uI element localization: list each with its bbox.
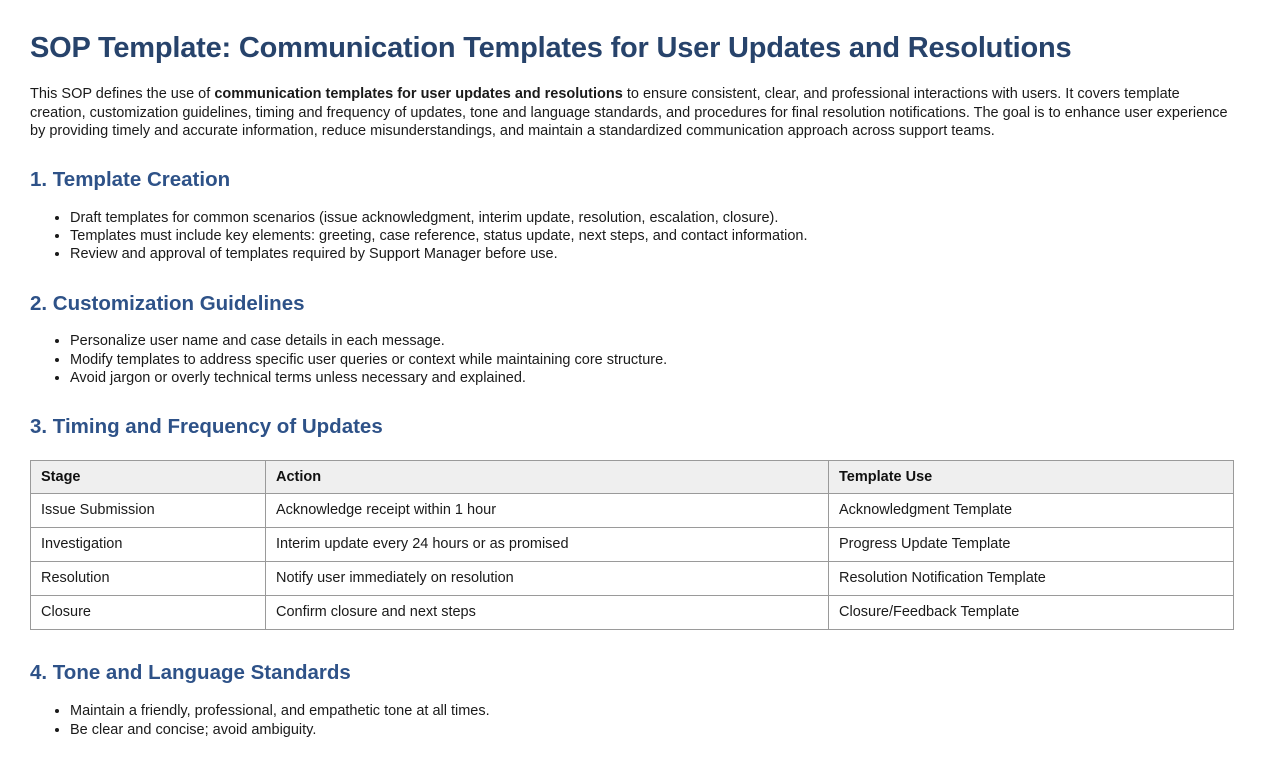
column-header-stage: Stage	[31, 460, 266, 493]
list-item: Review and approval of templates require…	[70, 245, 1233, 263]
list-item: Avoid jargon or overly technical terms u…	[70, 369, 1233, 387]
document-page: SOP Template: Communication Templates fo…	[0, 0, 1263, 739]
cell-action: Acknowledge receipt within 1 hour	[266, 493, 829, 527]
intro-emphasis: communication templates for user updates…	[214, 86, 623, 102]
section-1-bullet-list: Draft templates for common scenarios (is…	[30, 209, 1233, 264]
list-item: Maintain a friendly, professional, and e…	[70, 702, 1233, 720]
list-item: Templates must include key elements: gre…	[70, 227, 1233, 245]
column-header-template-use: Template Use	[829, 460, 1234, 493]
cell-template-use: Closure/Feedback Template	[829, 595, 1234, 629]
table-header-row: Stage Action Template Use	[31, 460, 1234, 493]
section-4-bullet-list: Maintain a friendly, professional, and e…	[30, 702, 1233, 739]
cell-template-use: Resolution Notification Template	[829, 561, 1234, 595]
table-row: Closure Confirm closure and next steps C…	[31, 595, 1234, 629]
cell-stage: Resolution	[31, 561, 266, 595]
section-heading-timing-frequency: 3. Timing and Frequency of Updates	[30, 415, 1233, 440]
cell-stage: Investigation	[31, 527, 266, 561]
page-title: SOP Template: Communication Templates fo…	[30, 0, 1233, 65]
cell-action: Confirm closure and next steps	[266, 595, 829, 629]
cell-template-use: Acknowledgment Template	[829, 493, 1234, 527]
column-header-action: Action	[266, 460, 829, 493]
list-item: Be clear and concise; avoid ambiguity.	[70, 721, 1233, 739]
section-heading-customization-guidelines: 2. Customization Guidelines	[30, 292, 1233, 317]
intro-text-part1: This SOP defines the use of	[30, 86, 214, 102]
list-item: Personalize user name and case details i…	[70, 332, 1233, 350]
intro-paragraph: This SOP defines the use of communicatio…	[30, 85, 1233, 140]
list-item: Modify templates to address specific use…	[70, 351, 1233, 369]
cell-stage: Closure	[31, 595, 266, 629]
cell-action: Interim update every 24 hours or as prom…	[266, 527, 829, 561]
timing-frequency-table: Stage Action Template Use Issue Submissi…	[30, 460, 1234, 630]
section-2-bullet-list: Personalize user name and case details i…	[30, 332, 1233, 387]
section-heading-tone-language: 4. Tone and Language Standards	[30, 661, 1233, 686]
table-row: Issue Submission Acknowledge receipt wit…	[31, 493, 1234, 527]
table-row: Investigation Interim update every 24 ho…	[31, 527, 1234, 561]
cell-template-use: Progress Update Template	[829, 527, 1234, 561]
table-row: Resolution Notify user immediately on re…	[31, 561, 1234, 595]
section-heading-template-creation: 1. Template Creation	[30, 168, 1233, 193]
list-item: Draft templates for common scenarios (is…	[70, 209, 1233, 227]
cell-action: Notify user immediately on resolution	[266, 561, 829, 595]
cell-stage: Issue Submission	[31, 493, 266, 527]
